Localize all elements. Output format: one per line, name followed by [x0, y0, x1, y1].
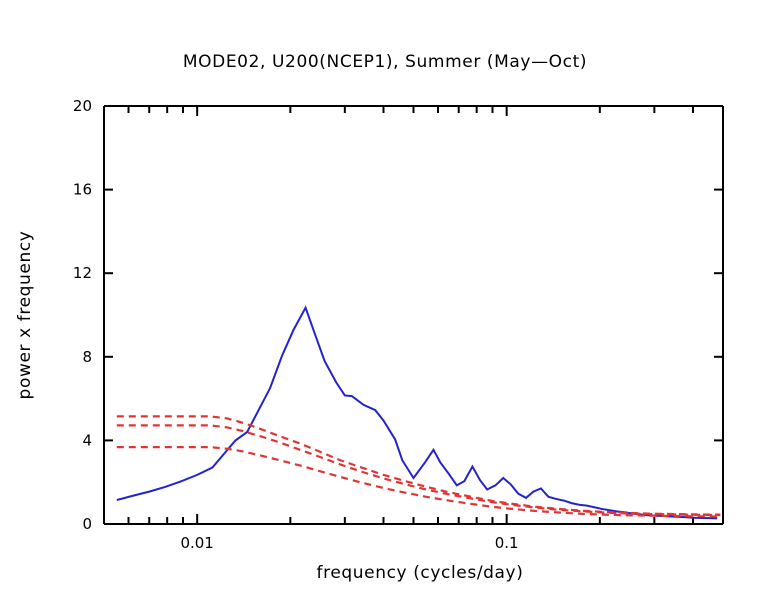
- y-tick-label: 4: [82, 431, 92, 449]
- y-axis-title: power x frequency: [15, 231, 35, 400]
- x-axis-tick-labels: 0.010.1: [180, 534, 518, 552]
- y-tick-label: 16: [73, 181, 92, 199]
- axis-ticks: [104, 106, 723, 524]
- x-tick-label: 0.1: [495, 534, 519, 552]
- data-series-group: [117, 308, 720, 519]
- x-tick-label: 0.01: [180, 534, 213, 552]
- series-line-3: [117, 447, 720, 516]
- y-axis-tick-labels: 048121620: [73, 97, 92, 533]
- y-tick-label: 8: [82, 348, 92, 366]
- x-axis-title: frequency (cycles/day): [317, 563, 524, 583]
- y-tick-label: 0: [82, 515, 92, 533]
- series-line-0: [117, 308, 717, 519]
- axis-frame: [104, 106, 723, 524]
- y-tick-label: 12: [73, 264, 92, 282]
- chart-page: MODE02, U200(NCEP1), Summer (May—Oct) 04…: [0, 0, 770, 595]
- spectrum-plot: 048121620 0.010.1 frequency (cycles/day)…: [0, 0, 770, 595]
- series-line-1: [117, 416, 720, 514]
- y-tick-label: 20: [73, 97, 92, 115]
